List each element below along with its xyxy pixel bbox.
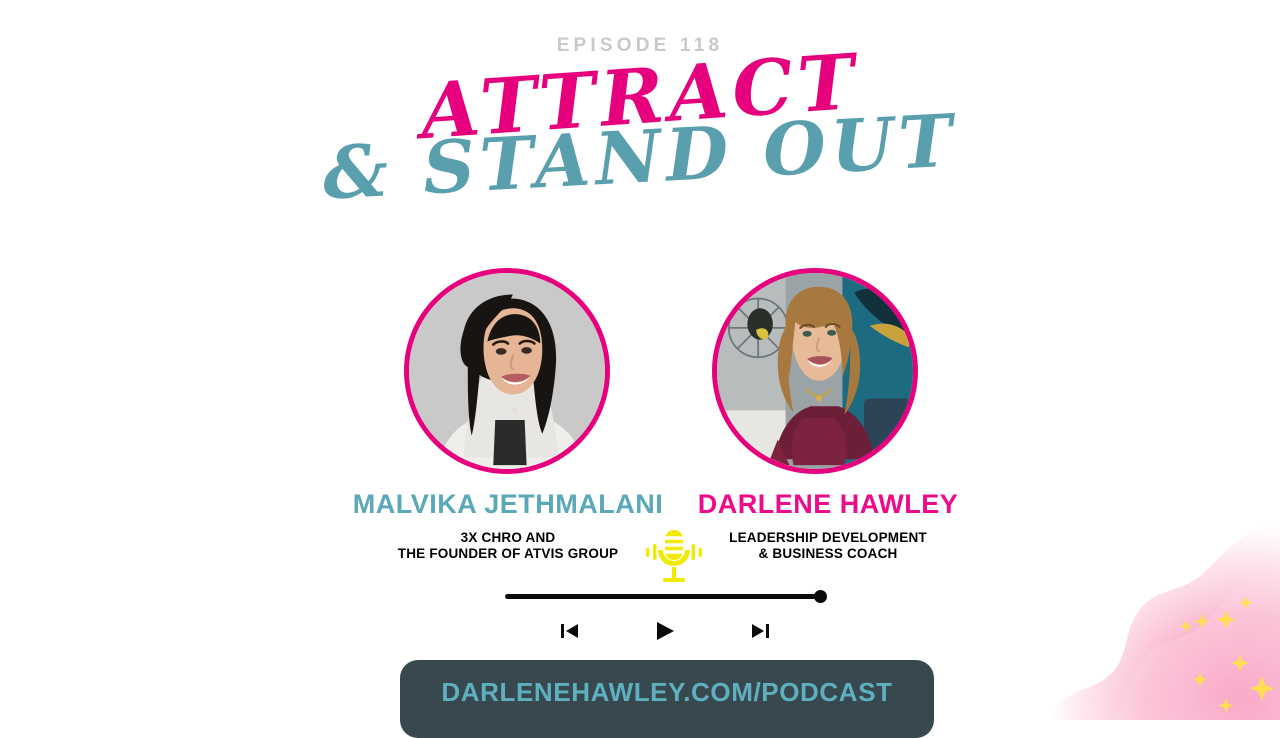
playback-progress-bar[interactable] — [505, 594, 823, 599]
next-track-icon[interactable] — [750, 622, 770, 640]
guest-role-line-2: THE FOUNDER OF ATVIS GROUP — [352, 546, 664, 562]
guest-info-darlene: DARLENE HAWLEY LEADERSHIP DEVELOPMENT & … — [672, 490, 984, 562]
player-controls — [560, 620, 770, 642]
guest-info-malvika: MALVIKA JETHMALANI 3X CHRO AND THE FOUND… — [352, 490, 664, 562]
guest-role-line-2: & BUSINESS COACH — [672, 546, 984, 562]
guest-name-darlene: DARLENE HAWLEY — [672, 490, 984, 520]
podcast-url-banner[interactable]: DARLENEHAWLEY.COM/PODCAST — [400, 660, 934, 738]
guest-photo-darlene — [712, 268, 918, 474]
playback-progress-handle[interactable] — [814, 590, 827, 603]
guest-role-line-1: LEADERSHIP DEVELOPMENT — [672, 530, 984, 546]
podcast-title: ATTRACT & STAND OUT — [0, 52, 1280, 217]
podcast-url-text: DARLENEHAWLEY.COM/PODCAST — [400, 677, 934, 708]
guest-photo-malvika — [404, 268, 610, 474]
guest-role-line-1: 3X CHRO AND — [352, 530, 664, 546]
guest-name-malvika: MALVIKA JETHMALANI — [352, 490, 664, 520]
previous-track-icon[interactable] — [560, 622, 580, 640]
watercolor-corner-decoration — [1050, 510, 1280, 720]
guest-role-malvika: 3X CHRO AND THE FOUNDER OF ATVIS GROUP — [352, 530, 664, 562]
microphone-icon — [641, 528, 707, 590]
play-icon[interactable] — [654, 620, 676, 642]
guest-role-darlene: LEADERSHIP DEVELOPMENT & BUSINESS COACH — [672, 530, 984, 562]
